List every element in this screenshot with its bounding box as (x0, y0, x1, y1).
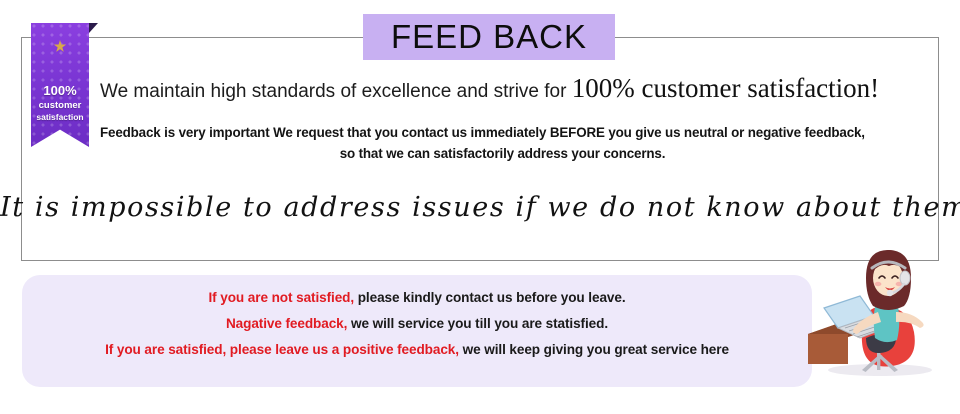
script-tagline-text: It is impossible to address issues if we… (0, 192, 960, 223)
desk-body-icon (808, 334, 848, 364)
page-title: FEED BACK (391, 18, 587, 56)
policy-row-2-text: we will service you till you are statisf… (347, 316, 608, 331)
policy-row: If you are not satisfied, please kindly … (22, 285, 812, 311)
feedback-policy-lines: If you are not satisfied, please kindly … (22, 285, 812, 363)
policy-row-1-accent: If you are not satisfied, (208, 290, 354, 305)
ribbon-line-2: customer (31, 100, 89, 112)
headset-mic-icon (887, 290, 893, 296)
policy-row-3-accent: If you are satisfied, please leave us a … (105, 342, 459, 357)
lead-statement: We maintain high standards of excellence… (100, 73, 930, 104)
satisfaction-ribbon-badge: 100% customer satisfaction (31, 23, 89, 147)
policy-row: Nagative feedback, we will service you t… (22, 311, 812, 337)
ribbon-fold-shape (89, 23, 98, 33)
ribbon-label: 100% customer satisfaction (31, 83, 89, 123)
blush-left-icon (875, 282, 882, 286)
ribbon-body: 100% customer satisfaction (31, 23, 89, 147)
star-icon (54, 40, 67, 53)
page-title-chip: FEED BACK (363, 14, 615, 60)
headset-earpiece-icon (900, 271, 910, 285)
ribbon-percent: 100% (31, 83, 89, 100)
paragraph-line-2: so that we can satisfactorily address yo… (100, 143, 905, 164)
policy-row-2-accent: Nagative feedback, (226, 316, 347, 331)
feedback-request-paragraph: Feedback is very important We request th… (100, 122, 905, 164)
ribbon-line-3: satisfaction (31, 112, 89, 123)
policy-row: If you are satisfied, please leave us a … (22, 337, 812, 363)
policy-row-3-text: we will keep giving you great service he… (459, 342, 729, 357)
paragraph-line-1: Feedback is very important We request th… (100, 122, 905, 143)
script-tagline: It is impossible to address issues if we… (0, 192, 960, 223)
lead-statement-plain: We maintain high standards of excellence… (100, 81, 572, 102)
lead-statement-emphasis: 100% customer satisfaction! (572, 73, 879, 103)
policy-row-1-text: please kindly contact us before you leav… (354, 290, 625, 305)
customer-service-agent-illustration (800, 246, 952, 386)
